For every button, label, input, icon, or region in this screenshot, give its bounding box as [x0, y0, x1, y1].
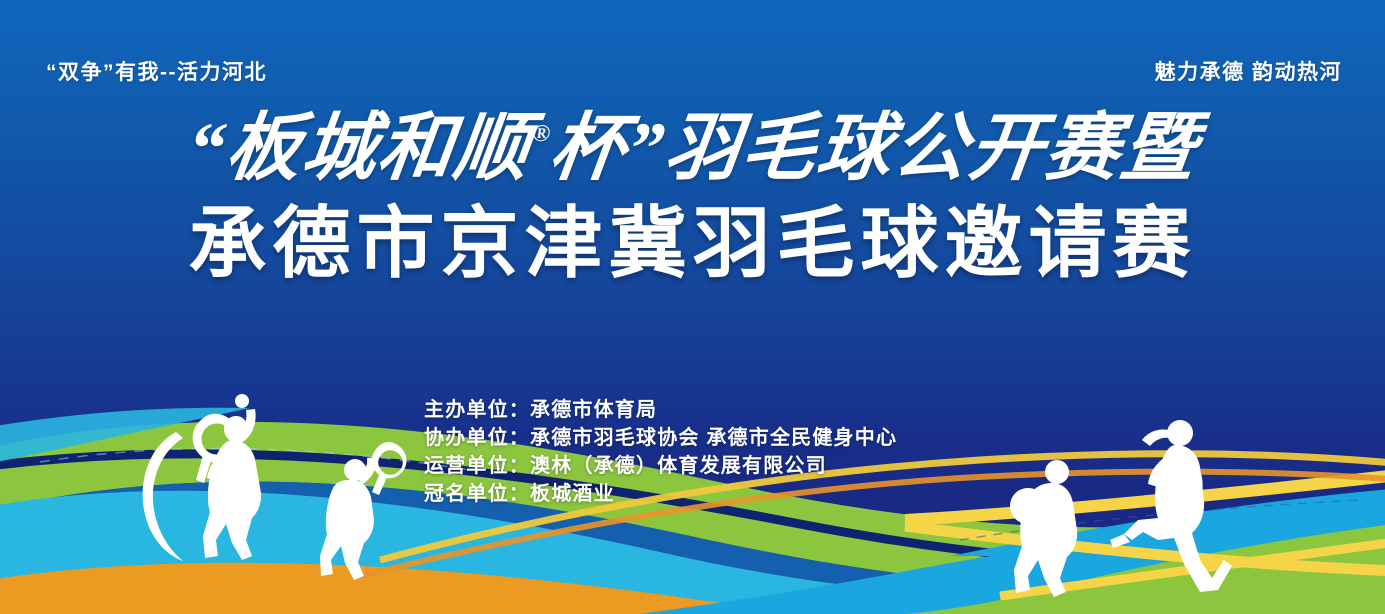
organizer-line-coorganizer: 协办单位：承德市羽毛球协会 承德市全民健身中心	[424, 424, 897, 452]
page-title: “板城和顺®杯”羽毛球公开赛暨 承德市京津冀羽毛球邀请赛	[0, 112, 1385, 282]
organizer-list: 主办单位：承德市体育局 协办单位：承德市羽毛球协会 承德市全民健身中心 运营单位…	[424, 396, 897, 508]
title-line-1-prefix: “板城和顺	[182, 108, 535, 190]
runner-head	[1167, 420, 1193, 446]
organizer-line-operator: 运营单位：澳林（承德）体育发展有限公司	[424, 452, 897, 480]
title-line-2: 承德市京津冀羽毛球邀请赛	[0, 204, 1385, 282]
basketball-head	[1045, 460, 1069, 484]
slogan-left: “双争”有我--活力河北	[46, 56, 267, 86]
title-line-1-suffix: 杯”羽毛球公开赛暨	[545, 108, 1202, 190]
slogan-right: 魅力承德 韵动热河	[1155, 56, 1342, 86]
organizer-line-host: 主办单位：承德市体育局	[424, 396, 897, 424]
background-artwork	[0, 0, 1385, 614]
organizer-line-sponsor: 冠名单位：板城酒业	[424, 480, 897, 508]
event-banner: “双争”有我--活力河北 魅力承德 韵动热河 “板城和顺®杯”羽毛球公开赛暨 承…	[0, 0, 1385, 614]
title-line-1: “板城和顺®杯”羽毛球公开赛暨	[0, 112, 1385, 186]
tennis-ball	[235, 394, 249, 408]
